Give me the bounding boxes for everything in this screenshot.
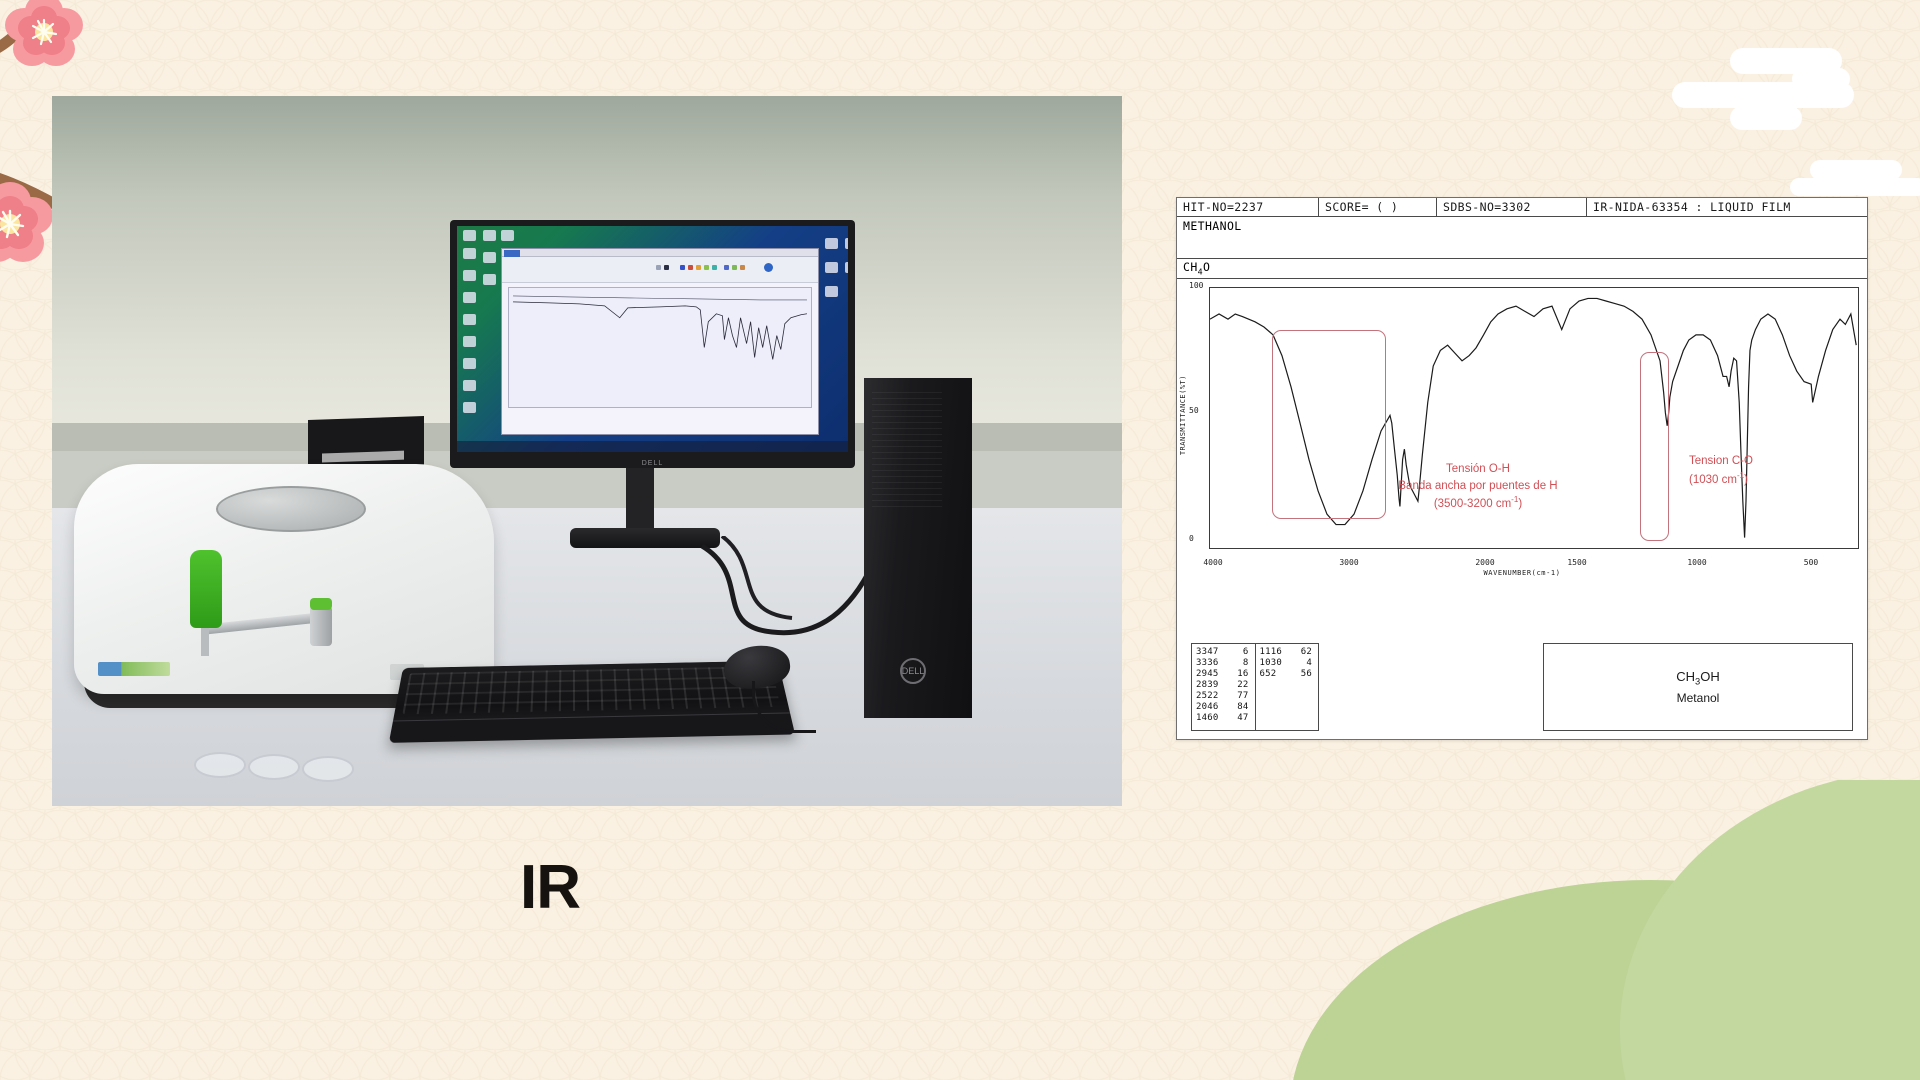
desktop-tower: DELL xyxy=(864,378,972,718)
peak-wavenumber: 2945 xyxy=(1196,669,1218,680)
y-tick-50: 50 xyxy=(1189,406,1199,415)
ftir-brand-logo xyxy=(98,662,170,676)
software-spectrum-plot xyxy=(508,287,812,408)
peak-intensity: 6 xyxy=(1243,647,1249,658)
ir-spectrum-card: HIT-NO=2237 SCORE= ( ) SDBS-NO=3302 IR-N… xyxy=(1176,197,1868,740)
window-titlebar xyxy=(502,249,818,257)
peak-table-column-left: 3347633368294516283922252277204684146047 xyxy=(1192,644,1256,730)
spectrum-bottom-row: 3347633368294516283922252277204684146047… xyxy=(1177,643,1867,735)
peak-wavenumber: 2522 xyxy=(1196,691,1218,702)
ftir-sample-plate xyxy=(216,486,366,532)
annotation-label-oh: Tensión O-H Banda ancha por puentes de H… xyxy=(1373,461,1583,513)
petri-dish xyxy=(302,756,354,782)
compound-formula: CH3OH xyxy=(1676,669,1719,687)
peak-row: 146047 xyxy=(1196,713,1253,724)
peak-row: 33476 xyxy=(1196,647,1253,658)
spectrum-plot-wrap: TRANSMITTANCE(%T) 100 50 0 4000 3000 200… xyxy=(1177,279,1867,579)
ir-id-cell: IR-NIDA-63354 : LIQUID FILM xyxy=(1587,198,1867,216)
ftir-atr-pressure-knob xyxy=(190,550,222,628)
peak-intensity: 47 xyxy=(1237,713,1248,724)
peak-row: 65256 xyxy=(1260,669,1317,680)
compound-name-row: METHANOL xyxy=(1177,217,1867,259)
petri-dish xyxy=(194,752,246,778)
peak-intensity: 8 xyxy=(1243,658,1249,669)
peak-wavenumber: 2839 xyxy=(1196,680,1218,691)
lab-photo: DELL DELL xyxy=(52,96,1122,806)
peak-intensity: 62 xyxy=(1301,647,1312,658)
peak-table-column-right: 1116621030465256 xyxy=(1256,644,1319,730)
page-title: IR xyxy=(520,852,580,923)
peak-wavenumber: 1030 xyxy=(1260,658,1282,669)
hit-no-cell: HIT-NO=2237 xyxy=(1177,198,1319,216)
spectroscopy-software-window xyxy=(501,248,819,435)
x-tick-1000: 1000 xyxy=(1687,558,1706,567)
monitor-screen xyxy=(457,226,848,452)
peak-row: 283922 xyxy=(1196,680,1253,691)
molecular-formula-row: CH4O xyxy=(1177,259,1867,279)
annotation-co-line1: Tension C-O xyxy=(1689,453,1829,470)
annotation-box-oh xyxy=(1272,330,1385,520)
peak-table: 3347633368294516283922252277204684146047… xyxy=(1191,643,1319,731)
peak-intensity: 4 xyxy=(1306,658,1312,669)
peak-intensity: 16 xyxy=(1237,669,1248,680)
sdbs-no-cell: SDBS-NO=3302 xyxy=(1437,198,1587,216)
compound-identity-box: CH3OH Metanol xyxy=(1543,643,1853,731)
desk-cables xyxy=(692,536,882,676)
spectrum-header-row: HIT-NO=2237 SCORE= ( ) SDBS-NO=3302 IR-N… xyxy=(1177,198,1867,217)
petri-dish xyxy=(248,754,300,780)
peak-wavenumber: 652 xyxy=(1260,669,1277,680)
peak-intensity: 77 xyxy=(1237,691,1248,702)
peak-row: 252277 xyxy=(1196,691,1253,702)
ftir-spectrometer xyxy=(74,464,494,694)
y-axis-title: TRANSMITTANCE(%T) xyxy=(1179,375,1187,455)
peak-row: 204684 xyxy=(1196,702,1253,713)
peak-intensity: 22 xyxy=(1237,680,1248,691)
peak-row: 10304 xyxy=(1260,658,1317,669)
windows-taskbar xyxy=(457,441,848,452)
peak-row: 33368 xyxy=(1196,658,1253,669)
peak-intensity: 84 xyxy=(1237,702,1248,713)
annotation-label-co: Tension C-O (1030 cm-1) xyxy=(1689,453,1829,488)
score-cell: SCORE= ( ) xyxy=(1319,198,1437,216)
peak-row: 111662 xyxy=(1260,647,1317,658)
software-ribbon-toolbar xyxy=(502,257,818,283)
x-tick-2000: 2000 xyxy=(1475,558,1494,567)
peak-wavenumber: 3336 xyxy=(1196,658,1218,669)
compound-common-name: Metanol xyxy=(1677,691,1720,705)
x-tick-1500: 1500 xyxy=(1567,558,1586,567)
peak-wavenumber: 3347 xyxy=(1196,647,1218,658)
x-tick-3000: 3000 xyxy=(1339,558,1358,567)
annotation-oh-line2: Banda ancha por puentes de H xyxy=(1373,478,1583,495)
peak-wavenumber: 2046 xyxy=(1196,702,1218,713)
ftir-atr-pillar xyxy=(310,606,332,646)
tower-brand-badge: DELL xyxy=(900,658,926,684)
annotation-oh-line3: (3500-3200 cm-1) xyxy=(1373,494,1583,513)
x-axis-label: WAVENUMBER(cm-1) xyxy=(1177,569,1867,577)
x-tick-4000: 4000 xyxy=(1203,558,1222,567)
peak-row: 294516 xyxy=(1196,669,1253,680)
monitor-brand-label: DELL xyxy=(642,460,664,467)
monitor-stand-neck xyxy=(626,468,654,534)
y-tick-100: 100 xyxy=(1189,281,1203,290)
annotation-box-co xyxy=(1640,352,1669,542)
peak-intensity: 56 xyxy=(1301,669,1312,680)
y-tick-0: 0 xyxy=(1189,534,1194,543)
annotation-co-line2: (1030 cm-1) xyxy=(1689,470,1829,489)
x-tick-500: 500 xyxy=(1804,558,1818,567)
annotation-oh-line1: Tensión O-H xyxy=(1373,461,1583,478)
peak-wavenumber: 1116 xyxy=(1260,647,1282,658)
peak-wavenumber: 1460 xyxy=(1196,713,1218,724)
cherry-blossom-icon xyxy=(0,0,122,106)
computer-monitor: DELL xyxy=(450,220,855,468)
leaf-decoration xyxy=(1220,780,1920,1080)
ftir-atr-pillar-cap xyxy=(310,598,332,610)
